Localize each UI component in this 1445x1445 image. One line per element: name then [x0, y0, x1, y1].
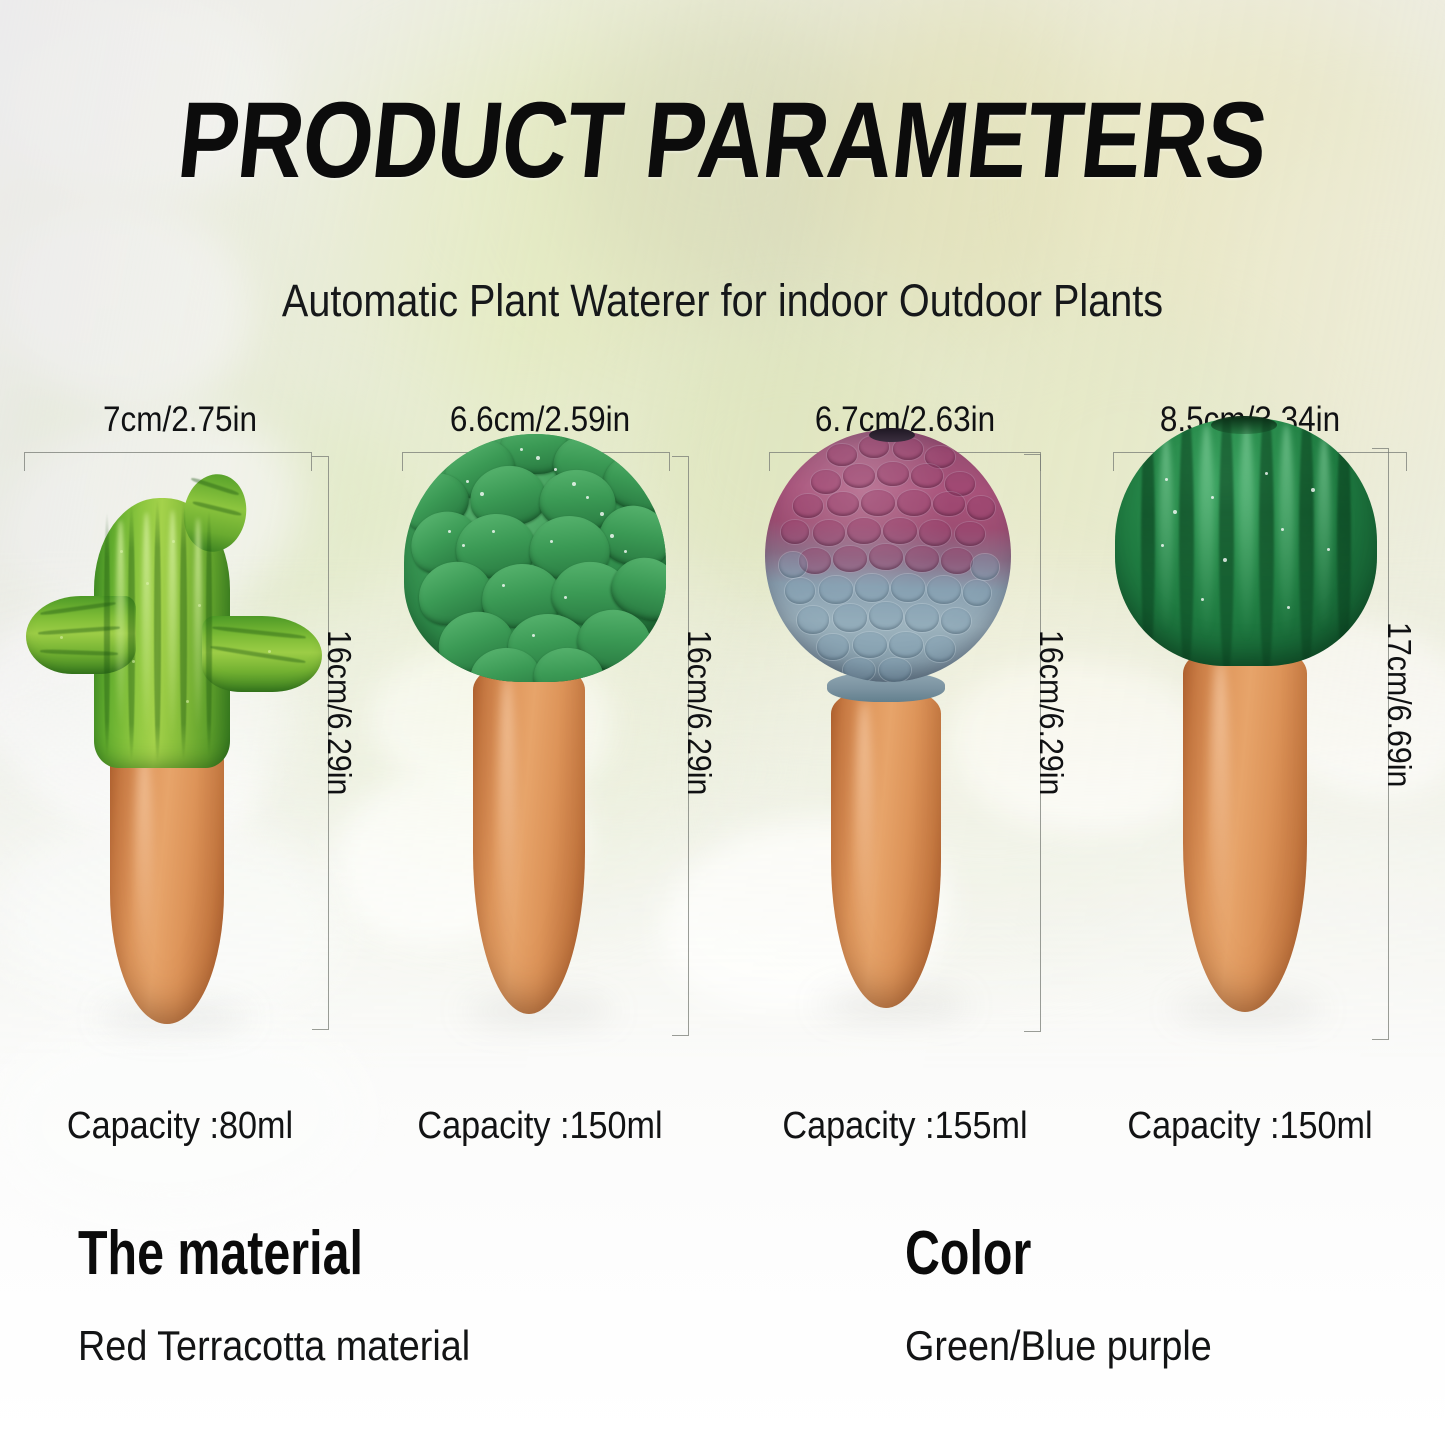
terracotta-stem	[1183, 644, 1307, 1012]
height-dimension-label: 16cm/6.29in	[680, 630, 718, 795]
capacity-label: Capacity :150ml	[1102, 1105, 1399, 1148]
product-image-saguaro-cactus	[0, 400, 360, 1040]
berry-ball-head	[765, 430, 1011, 682]
capacity-label: Capacity :150ml	[378, 1105, 702, 1148]
barrel-cactus-head	[1115, 418, 1377, 666]
product-item-artichoke: 6.6cm/2.59in	[360, 400, 720, 1080]
product-parameters-infographic: PRODUCT PARAMETERS Automatic Plant Water…	[0, 0, 1445, 1445]
terracotta-stem	[473, 662, 585, 1014]
color-value: Green/Blue purple	[905, 1322, 1212, 1370]
terracotta-stem	[831, 688, 941, 1008]
product-item-saguaro-cactus: 7cm/2.75in	[0, 400, 360, 1080]
page-title: PRODUCT PARAMETERS	[110, 86, 1335, 194]
material-heading: The material	[78, 1218, 363, 1289]
artichoke-head	[404, 434, 666, 682]
water-fill-hole	[869, 428, 915, 442]
page-subtitle: Automatic Plant Waterer for indoor Outdo…	[87, 275, 1359, 327]
capacity-label: Capacity :155ml	[743, 1105, 1067, 1148]
material-value: Red Terracotta material	[78, 1322, 470, 1370]
product-row: 7cm/2.75in	[0, 400, 1445, 1080]
height-dimension-label: 17cm/6.69in	[1380, 622, 1418, 787]
capacity-label: Capacity :80ml	[18, 1105, 342, 1148]
color-heading: Color	[905, 1218, 1031, 1289]
height-dimension-label: 16cm/6.29in	[1032, 630, 1070, 795]
footer-specs: The material Red Terracotta material Col…	[0, 1200, 1445, 1445]
product-image-artichoke	[360, 400, 720, 1040]
terracotta-stem	[110, 738, 224, 1024]
height-dimension-label: 16cm/6.29in	[320, 630, 358, 795]
water-fill-hole	[1211, 416, 1277, 434]
